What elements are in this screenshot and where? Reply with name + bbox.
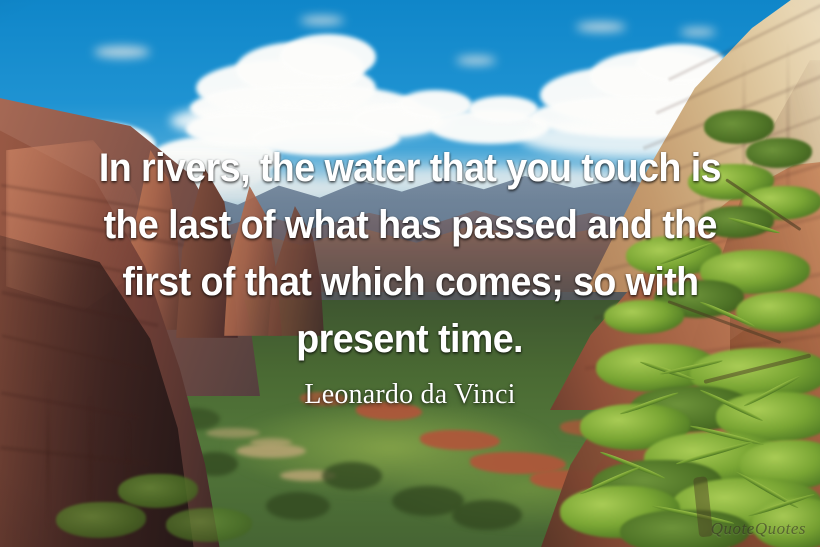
quote-poster: In rivers, the water that you touch is t… [0,0,820,547]
